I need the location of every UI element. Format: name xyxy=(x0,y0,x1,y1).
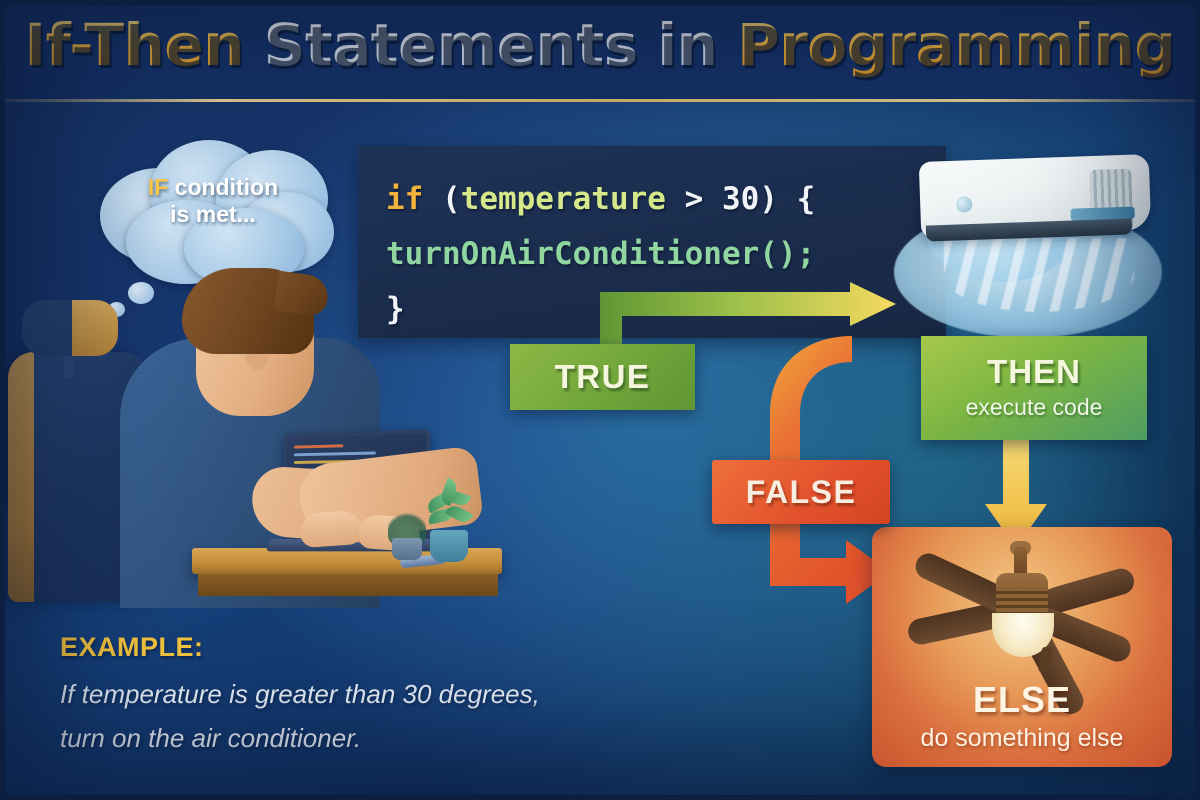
person-hand-left xyxy=(299,510,363,548)
label-true-text: TRUE xyxy=(555,358,651,396)
code-variable-temperature: temperature xyxy=(461,181,666,217)
cool-air-stream xyxy=(944,238,1134,312)
title-part-in: in xyxy=(657,11,717,79)
example-section: EXAMPLE: If temperature is greater than … xyxy=(60,632,700,759)
else-text-group: ELSE do something else xyxy=(872,682,1172,753)
desk-front xyxy=(198,574,498,596)
panel-else[interactable]: ELSE do something else xyxy=(872,527,1172,767)
plant-pot xyxy=(430,530,468,562)
label-then[interactable]: THEN execute code xyxy=(921,336,1147,440)
example-line-2: turn on the air conditioner. xyxy=(60,717,700,759)
chair-headrest-trim xyxy=(72,300,118,356)
label-false-text: FALSE xyxy=(746,474,857,511)
infographic-poster: If-Then Statements in Programming IF con… xyxy=(0,0,1200,800)
thought-keyword: IF xyxy=(148,174,168,200)
label-false[interactable]: FALSE xyxy=(712,460,890,524)
ac-power-led xyxy=(956,196,973,213)
example-line-1: If temperature is greater than 30 degree… xyxy=(60,673,700,715)
code-number-30: 30 xyxy=(722,181,759,217)
person-hair-tuft xyxy=(273,271,330,318)
arrow-true-to-then xyxy=(600,282,900,350)
label-then-text: THEN xyxy=(987,355,1081,388)
page-title: If-Then Statements in Programming xyxy=(0,16,1200,74)
label-then-subtext: execute code xyxy=(966,394,1103,421)
chair-trim xyxy=(8,352,34,602)
thought-line-2: is met... xyxy=(88,201,338,228)
title-part-statements: Statements xyxy=(264,11,638,79)
plant-icon xyxy=(424,486,474,534)
title-part-if-then: If-Then xyxy=(25,11,244,79)
example-heading: EXAMPLE: xyxy=(60,632,700,663)
title-part-programming: Programming xyxy=(737,11,1175,79)
code-close-brace-open: ) { xyxy=(759,181,815,217)
code-closing-brace: } xyxy=(386,291,405,327)
thought-bubble-text: IF condition is met... xyxy=(88,174,338,228)
code-operator-gt: > xyxy=(666,181,722,217)
label-true[interactable]: TRUE xyxy=(510,344,695,410)
label-else-subtext: do something else xyxy=(872,724,1172,753)
code-open-paren: ( xyxy=(423,181,460,217)
plant-pot-back xyxy=(392,538,422,560)
thought-line-1: condition xyxy=(168,174,278,200)
air-conditioner-icon xyxy=(900,150,1180,360)
code-function-call: turnOnAirConditioner(); xyxy=(386,236,815,272)
label-else-text: ELSE xyxy=(872,682,1172,718)
code-keyword-if: if xyxy=(386,181,423,217)
title-divider xyxy=(0,99,1200,102)
thought-bubble: IF condition is met... xyxy=(88,138,338,278)
ceiling-fan-icon xyxy=(900,543,1144,671)
